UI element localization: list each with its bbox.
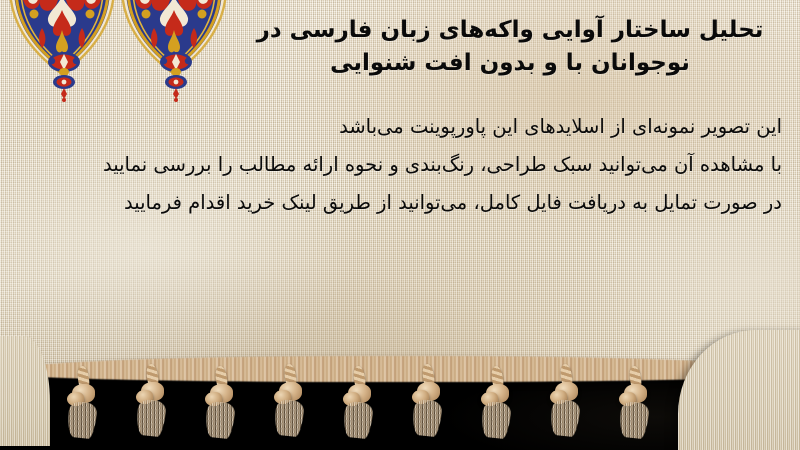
fringe-tassel xyxy=(0,364,32,436)
tassel-skirt xyxy=(480,401,512,440)
body-line-1: این تصویر نمونه‌ای از اسلایدهای این پاور… xyxy=(14,108,782,146)
fringe-tassel xyxy=(410,364,446,436)
fringe-tassel xyxy=(548,364,584,436)
tassel-skirt xyxy=(411,399,443,438)
body-line-3: در صورت تمایل به دریافت فایل کامل، می‌تو… xyxy=(14,184,782,222)
tassel-skirt xyxy=(204,401,236,440)
slide-canvas: تحلیل ساختار آوایی واکه‌های زبان فارسی د… xyxy=(0,0,800,450)
fringe-tassel xyxy=(479,366,515,438)
fringe-tassel xyxy=(755,366,791,438)
tassel-skirt xyxy=(618,401,650,440)
body-line-2: با مشاهده آن می‌توانید سبک طراحی، رنگ‌بن… xyxy=(14,146,782,184)
fringe-tassel xyxy=(617,366,653,438)
tassel-skirt xyxy=(342,401,374,440)
tassel-skirt xyxy=(756,401,788,440)
fringe-tassel xyxy=(686,364,722,436)
fringe-tassel xyxy=(272,364,308,436)
pendant-drop-left xyxy=(45,50,83,102)
fringe-tassel xyxy=(203,366,239,438)
fringe-tassel xyxy=(341,366,377,438)
fringe-tassel xyxy=(134,364,170,436)
tassel-skirt xyxy=(66,401,98,440)
tassel-skirt xyxy=(273,399,305,438)
carpet-selvedge-band xyxy=(0,356,800,382)
slide-body-text: این تصویر نمونه‌ای از اسلایدهای این پاور… xyxy=(14,108,782,222)
fringe-tassel xyxy=(65,366,101,438)
tassel-skirt xyxy=(135,399,167,438)
tassel-skirt xyxy=(687,399,719,438)
pendant-drop-right xyxy=(157,50,195,102)
slide-title: تحلیل ساختار آوایی واکه‌های زبان فارسی د… xyxy=(232,14,788,80)
tassel-skirt xyxy=(549,399,581,438)
tassel-skirt xyxy=(0,399,29,438)
